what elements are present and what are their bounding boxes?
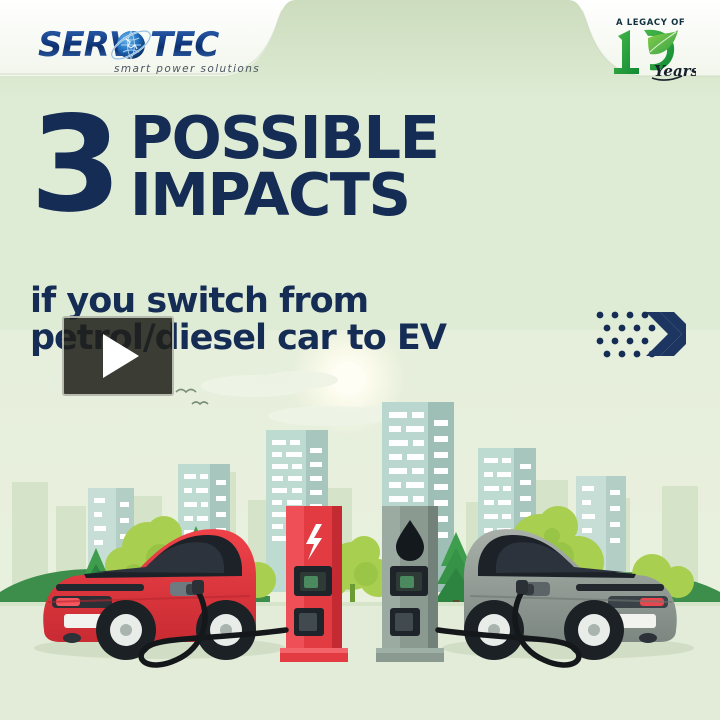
headline-number: 3 — [30, 110, 118, 221]
legacy-unit: Years — [654, 62, 696, 80]
dot-grid-pattern — [597, 312, 656, 358]
poster-canvas: SERV TEC smart power solutions — [0, 0, 720, 720]
svg-text:TEC: TEC — [150, 25, 219, 65]
logo-tagline: smart power solutions — [114, 63, 260, 75]
legacy-badge-mark: A LEGACY OF Years — [604, 8, 696, 82]
legacy-badge: A LEGACY OF Years — [604, 8, 696, 82]
double-chevron-right-icon — [594, 303, 686, 365]
chevron-arrow-decoration — [594, 303, 686, 365]
video-play-button[interactable] — [62, 316, 174, 396]
headline-block: 3 POSSIBLE IMPACTS — [30, 104, 438, 223]
fuel-pump-station — [376, 506, 444, 662]
play-triangle-icon — [103, 334, 139, 378]
headline-line-2: IMPACTS — [130, 167, 439, 224]
legacy-eyebrow: A LEGACY OF — [616, 18, 685, 28]
servotec-logo[interactable]: SERV TEC smart power solutions — [38, 22, 268, 78]
servotec-logo-mark: SERV TEC smart power solutions — [38, 22, 268, 78]
ev-charging-station — [280, 506, 348, 662]
headline-line-1: POSSIBLE — [130, 110, 439, 167]
